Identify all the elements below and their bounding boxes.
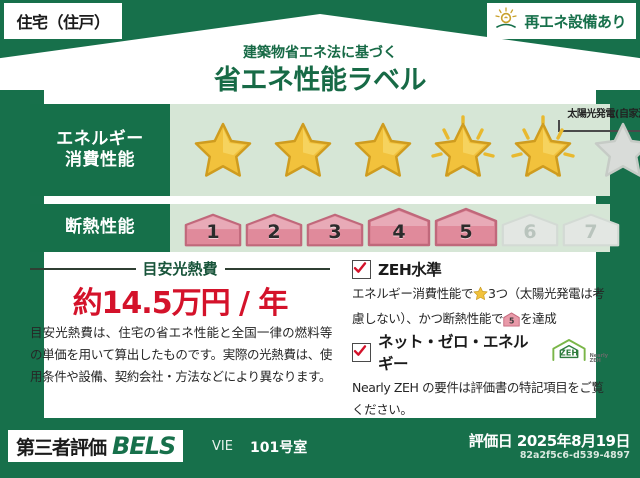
star-rating [184,104,606,196]
star-4 [424,113,502,187]
star-1 [184,113,262,187]
label-footer: 第三者評価 BELS VIE 101号室 評価日 2025年8月19日 82a2… [0,422,640,478]
bels-en-label: BELS [112,432,175,460]
net-zero-energy-header: ネット・ゼロ・エネルギー ZEH Nearly ZEH [352,330,608,374]
zeh-mark-subtext: Nearly ZEH [590,354,608,367]
insulation-level-number: 7 [584,221,597,247]
insulation-level-scale: 1234567 [184,204,606,252]
heading-rule-left [30,268,136,270]
insulation-level-7: 7 [562,213,620,247]
utility-cost-heading: 目安光熱費 [30,258,330,279]
insulation-level-number: 2 [267,221,280,247]
insulation-performance-label-box: 断熱性能 [30,204,170,252]
svg-text:ZEH: ZEH [559,348,578,358]
check-icon [352,343,371,362]
insulation-level-6: 6 [501,213,559,247]
insulation-level-3: 3 [306,213,364,247]
check-icon [352,260,371,279]
evaluation-date: 評価日 2025年8月19日 [469,430,630,451]
energy-performance-label-box: エネルギー 消費性能 [30,104,170,196]
zeh-standard-title: ZEH水準 [378,258,441,280]
insulation-level-1: 1 [184,213,242,247]
renewable-equipment-badge: 再エネ設備あり [487,3,636,39]
insulation-level-number: 6 [523,221,536,247]
zeh-desc-part-a: エネルギー消費性能で [352,286,473,301]
zeh-standard-header: ZEH水準 [352,258,608,280]
zeh-mark-sub2: ZEH [590,358,601,364]
insulation-level-2: 2 [245,213,303,247]
sun-icon [493,6,519,36]
zeh-standard-block: ZEH水準 エネルギー消費性能で3つ（太陽光発電は考慮しない）、かつ断熱性能で5… [352,258,608,333]
insulation-label: 断熱性能 [65,217,135,238]
energy-label-line1: エネルギー [56,129,144,150]
property-name: VIE [212,439,233,454]
utility-cost-value: 約14.5万円 / 年 [30,278,330,322]
zeh-desc-part-c: を達成 [520,311,556,326]
insulation-level-number: 5 [459,221,472,247]
insulation-levels-area: 1234567 [170,204,610,252]
net-zero-energy-block: ネット・ゼロ・エネルギー ZEH Nearly ZEH Nearly ZEH の… [352,330,608,420]
insulation-level-number: 4 [392,221,405,247]
energy-performance-label: 住宅（住戸） 再エネ設備あり 建築物省エネ法に基づく 省エネ性能ラベル [0,0,640,478]
insulation-level-4: 4 [367,207,431,247]
house-type-label: 住宅（住戸） [16,9,109,33]
star-5 [504,113,582,187]
utility-cost-note: 目安光熱費は、住宅の省エネ性能と全国一律の燃料等の単価を用いて算出したものです。… [30,322,332,388]
energy-stars-area: 太陽光発電(自家消費)分 [170,104,610,196]
insulation-level-number: 3 [328,221,341,247]
svg-text:5: 5 [509,316,514,325]
zeh-mark: ZEH Nearly ZEH [549,338,608,366]
house-type-badge: 住宅（住戸） [4,3,122,39]
energy-performance-row: エネルギー 消費性能 太陽光発電(自家消費)分 [30,104,610,196]
utility-cost-heading-text: 目安光熱費 [143,258,218,279]
insulation-level-number: 1 [206,221,219,247]
star-3 [344,113,422,187]
insulation-level-5: 5 [434,207,498,247]
zeh-house-icon: ZEH [549,338,589,366]
star-6 [584,113,640,187]
energy-label-line2: 消費性能 [65,150,135,171]
inline-star-icon [473,286,488,308]
star-2 [264,113,342,187]
net-zero-energy-description: Nearly ZEH の要件は評価書の特記項目をご覧ください。 [352,377,608,420]
net-zero-energy-title: ネット・ゼロ・エネルギー [378,330,542,374]
evaluation-id: 82a2f5c6-d539-4897 [520,450,630,461]
renewable-equipment-label: 再エネ設備あり [524,11,626,32]
heading-rule-right [225,268,331,270]
room-number: 101号室 [250,437,307,457]
bels-jp-label: 第三者評価 [16,433,106,460]
insulation-performance-row: 断熱性能 1234567 [30,204,610,252]
label-title: 省エネ性能ラベル [0,58,640,97]
zeh-standard-description: エネルギー消費性能で3つ（太陽光発電は考慮しない）、かつ断熱性能で5を達成 [352,283,608,333]
bels-badge: 第三者評価 BELS [8,430,183,462]
